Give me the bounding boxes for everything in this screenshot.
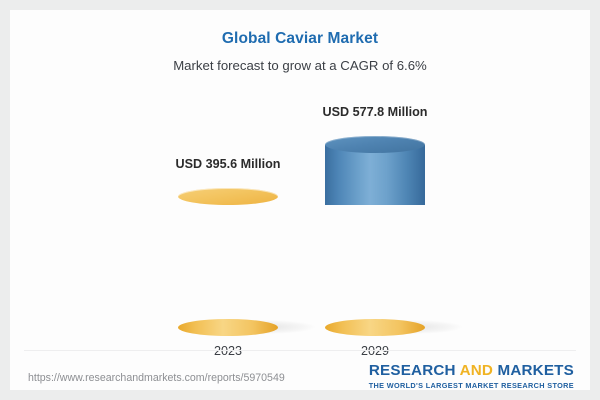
cylinder-top-2023 (178, 188, 278, 205)
cylinder-body-gold-2029 (325, 197, 425, 328)
bar-value-label-2023: USD 395.6 Million (153, 157, 303, 171)
cylinder-body-blue-2029 (325, 145, 425, 205)
cylinder-top-2029 (325, 136, 425, 153)
chart-plot-area: USD 395.6 Million 2023 USD 577.8 Million… (10, 10, 590, 350)
report-url[interactable]: https://www.researchandmarkets.com/repor… (28, 372, 285, 384)
brand-name-and: AND (460, 362, 494, 379)
brand-tagline: THE WORLD'S LARGEST MARKET RESEARCH STOR… (369, 381, 574, 390)
brand-name-part1: RESEARCH (369, 362, 460, 379)
category-label-2029: 2029 (300, 344, 450, 358)
brand-logo[interactable]: RESEARCH AND MARKETS THE WORLD'S LARGEST… (369, 362, 574, 390)
brand-name: RESEARCH AND MARKETS (369, 362, 574, 379)
bar-value-label-2029: USD 577.8 Million (300, 105, 450, 119)
cylinder-body-gold-2023 (178, 197, 278, 328)
footer-divider (24, 350, 576, 351)
category-label-2023: 2023 (153, 344, 303, 358)
chart-card: Global Caviar Market Market forecast to … (10, 10, 590, 390)
brand-name-part2: MARKETS (493, 362, 574, 379)
